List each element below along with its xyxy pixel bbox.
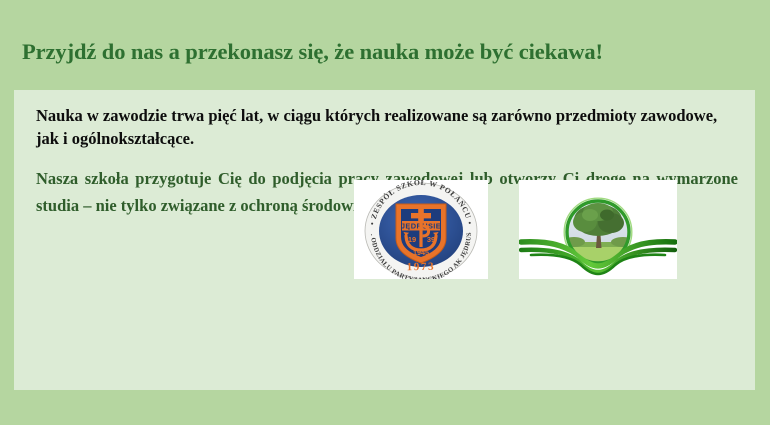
page-title: Przyjdź do nas a przekonasz się, że nauk… — [22, 38, 752, 65]
svg-text:39: 39 — [427, 235, 435, 244]
eco-tree-logo-icon — [519, 180, 677, 279]
svg-text:1973: 1973 — [407, 261, 436, 273]
zespol-szkol-w-polancu-emblem-icon: • ZESPÓŁ SZKÓŁ W POŁAŃCU • IM. ODDZIAŁU … — [354, 180, 488, 279]
paragraph-one: Nauka w zawodzie trwa pięć lat, w ciągu … — [36, 104, 736, 151]
svg-text:19: 19 — [408, 235, 416, 244]
svg-text:1945: 1945 — [413, 248, 429, 257]
eco-tree-logo-card — [519, 180, 677, 279]
slide-canvas: Przyjdź do nas a przekonasz się, że nauk… — [0, 0, 770, 425]
school-emblem-logo-card: • ZESPÓŁ SZKÓŁ W POŁAŃCU • IM. ODDZIAŁU … — [354, 180, 488, 279]
